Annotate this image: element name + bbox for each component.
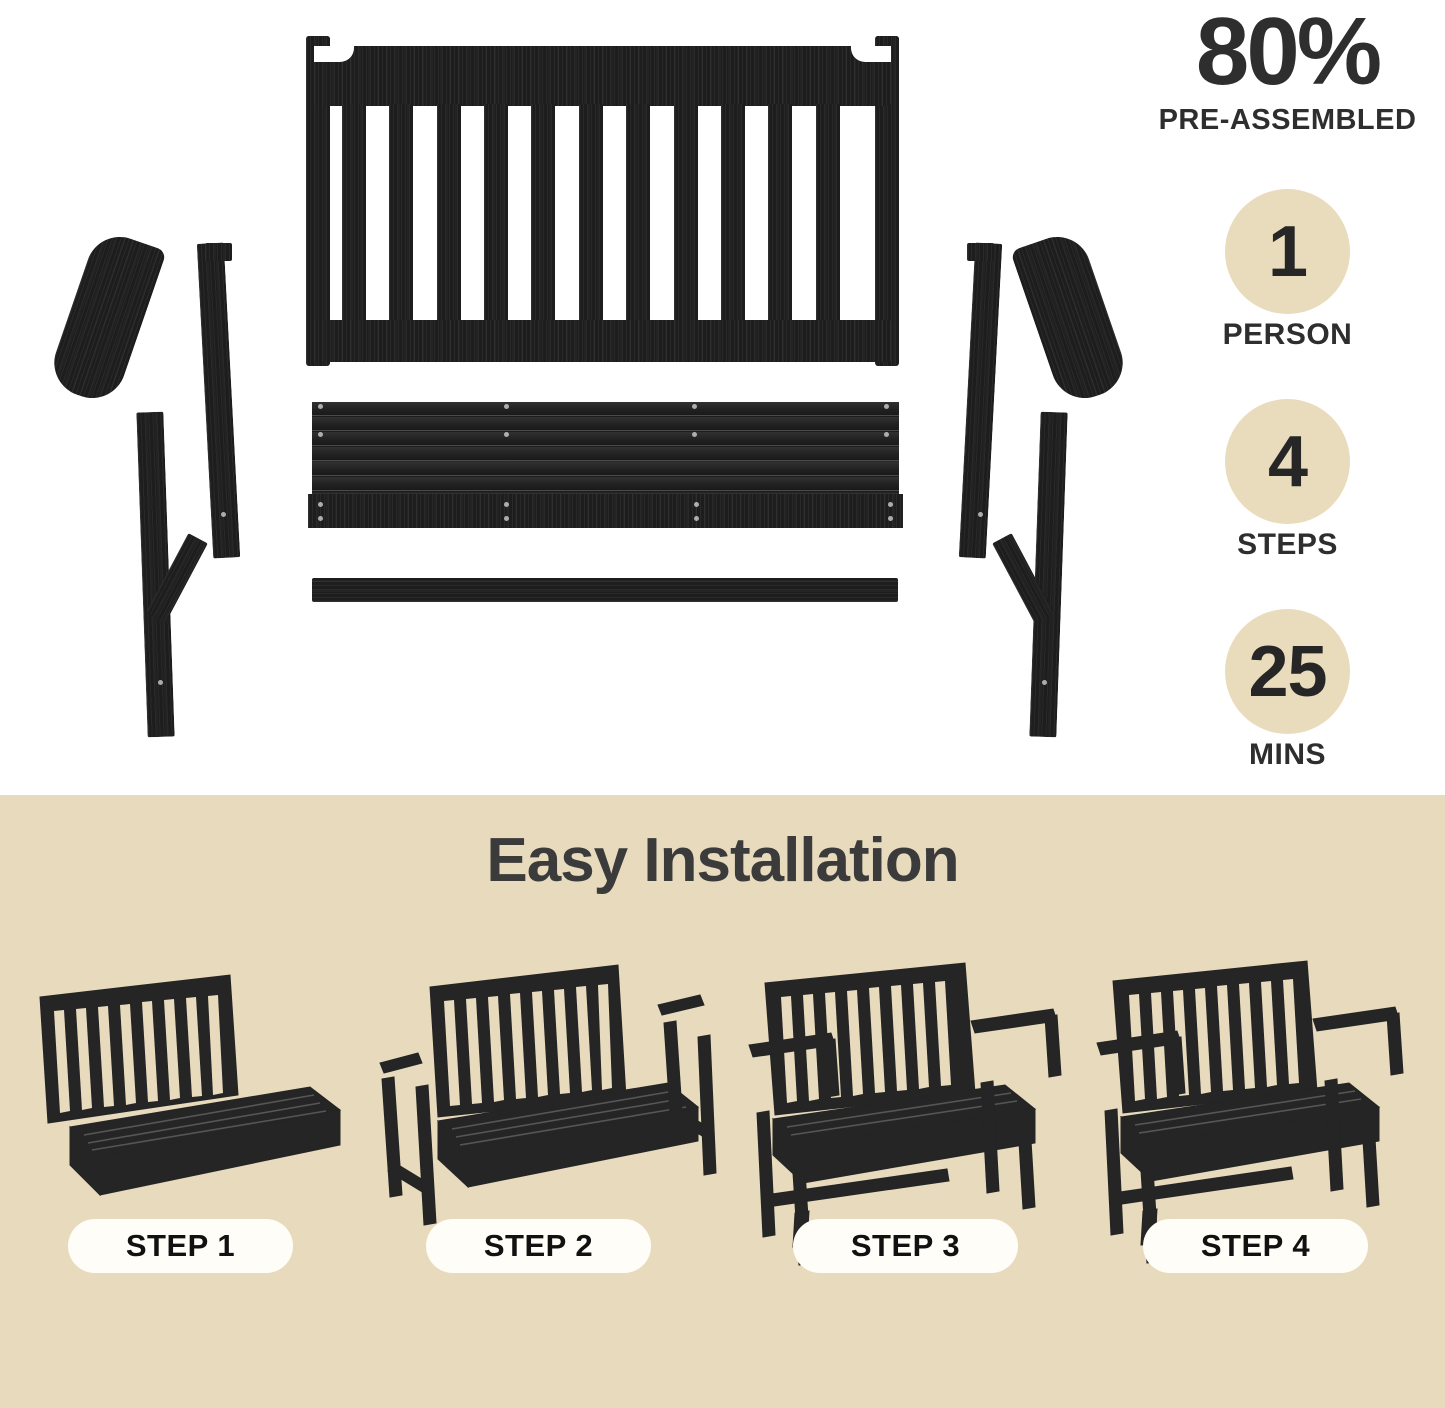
seat-front-apron [308,494,903,528]
backrest-slat [342,104,366,322]
screw-hole [884,432,889,437]
exploded-parts-panel: 80% PRE-ASSEMBLED 1 PERSON 4 STEPS 25 MI… [0,0,1445,795]
part-seat-panel [308,402,903,528]
part-leg-rear-right-foot [967,243,994,261]
part-leg-front-right [1029,412,1067,738]
seat-board [312,402,899,416]
screw-hole [318,432,323,437]
pre-assembled-percent: 80% [1130,4,1445,100]
step-pill-1[interactable]: STEP 1 [68,1219,293,1273]
backrest-slat [721,104,745,322]
step-pill-4[interactable]: STEP 4 [1143,1219,1368,1273]
step-pill-2[interactable]: STEP 2 [426,1219,651,1273]
backrest-slat [389,104,413,322]
screw-hole [1042,680,1047,685]
backrest-top-rail [314,46,891,106]
screw-hole [318,516,323,521]
badge-circle: 25 [1225,609,1350,734]
screw-hole [692,404,697,409]
backrest-crown-notch-right [851,46,891,62]
screw-hole [158,680,163,685]
screw-hole [888,516,893,521]
step-cell-4: STEP 4 [1085,945,1435,1375]
step-cell-3: STEP 3 [735,945,1085,1375]
backrest-slat [768,104,792,322]
easy-installation-title: Easy Installation [0,825,1445,896]
seat-board [312,447,899,461]
seat-board [312,462,899,476]
step-cell-1: STEP 1 [10,945,360,1375]
pre-assembled-label: PRE-ASSEMBLED [1130,104,1445,137]
screw-hole [884,404,889,409]
screw-hole [504,516,509,521]
infographic-stage: 80% PRE-ASSEMBLED 1 PERSON 4 STEPS 25 MI… [0,0,1445,1408]
screw-hole [694,502,699,507]
screw-hole [504,404,509,409]
backrest-slat [626,104,650,322]
backrest-slat [674,104,698,322]
badge-label: MINS [1130,738,1445,772]
badge-circle: 4 [1225,399,1350,524]
badge-number: 1 [1268,216,1307,288]
step-cell-2: STEP 2 [368,945,718,1375]
screw-hole [504,432,509,437]
backrest-slat [816,104,840,322]
screw-hole [504,502,509,507]
screw-hole [694,516,699,521]
backrest-slat [579,104,603,322]
badge-label: STEPS [1130,528,1445,562]
badge-person: 1 PERSON [1130,189,1445,352]
step-label: STEP 4 [1201,1228,1310,1264]
exploded-diagram [0,0,1130,795]
badge-circle: 1 [1225,189,1350,314]
part-armrest-left [45,228,167,407]
badge-number: 25 [1248,636,1326,708]
seat-board [312,477,899,491]
part-leg-rear-left-foot [205,243,232,261]
screw-hole [318,502,323,507]
screw-hole [318,404,323,409]
badge-mins: 25 MINS [1130,609,1445,772]
screw-hole [221,512,226,517]
backrest-slat [437,104,461,322]
easy-installation-panel: Easy Installation [0,795,1445,1408]
step-pill-3[interactable]: STEP 3 [793,1219,1018,1273]
step-label: STEP 1 [126,1228,235,1264]
backrest-slat [531,104,555,322]
stats-column: 80% PRE-ASSEMBLED 1 PERSON 4 STEPS 25 MI… [1130,0,1445,795]
backrest-bottom-rail [314,320,891,362]
badge-number: 4 [1268,426,1307,498]
seat-board [312,432,899,446]
part-support-rail [312,578,898,602]
seat-slat-surface [312,402,899,494]
badge-label: PERSON [1130,318,1445,352]
part-armrest-right [1010,228,1132,407]
part-leg-rear-left [197,243,240,559]
part-backrest-panel [300,28,905,358]
badge-steps: 4 STEPS [1130,399,1445,562]
backrest-slat [484,104,508,322]
step-label: STEP 2 [484,1228,593,1264]
screw-hole [692,432,697,437]
screw-hole [888,502,893,507]
seat-board [312,417,899,431]
screw-hole [978,512,983,517]
step-label: STEP 3 [851,1228,960,1264]
